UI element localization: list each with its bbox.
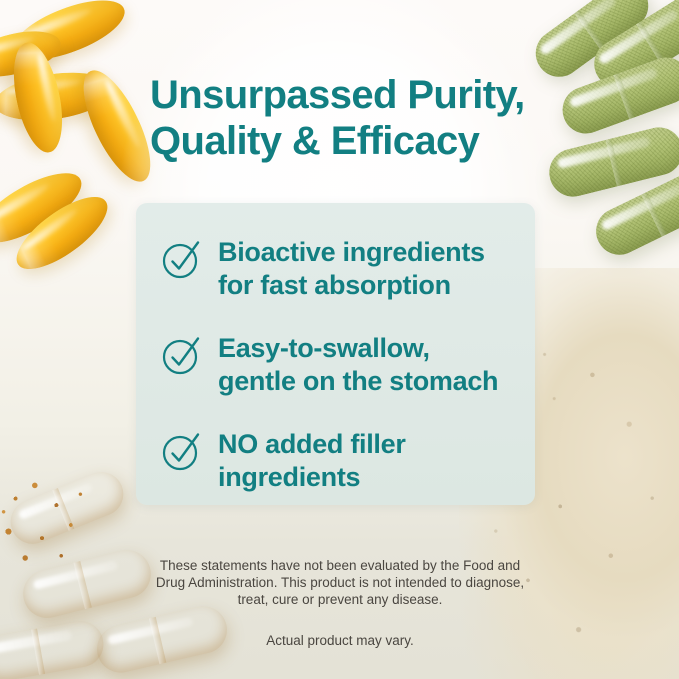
benefit-line-1: Bioactive ingredients [218, 236, 485, 269]
check-circle-icon [160, 332, 206, 378]
product-benefits-banner: Unsurpassed Purity, Quality & Efficacy B… [0, 0, 679, 679]
check-circle-icon [160, 236, 206, 282]
list-item: Bioactive ingredients for fast absorptio… [160, 234, 540, 302]
product-variance-note: Actual product may vary. [140, 632, 540, 649]
benefit-line-2: for fast absorption [218, 269, 485, 302]
check-circle-icon [160, 428, 206, 474]
fda-line-1: These statements have not been evaluated… [140, 557, 540, 574]
benefits-list: Bioactive ingredients for fast absorptio… [160, 234, 540, 494]
list-item: NO added filler ingredients [160, 426, 540, 494]
benefit-line-1: Easy-to-swallow, [218, 332, 498, 365]
fda-line-3: treat, cure or prevent any disease. [140, 591, 540, 608]
benefit-line-2: gentle on the stomach [218, 365, 498, 398]
benefit-line-1: NO added filler [218, 428, 406, 461]
list-item-label: NO added filler ingredients [218, 426, 406, 494]
headline-line-1: Unsurpassed Purity, [150, 72, 570, 118]
list-item-label: Bioactive ingredients for fast absorptio… [218, 234, 485, 302]
fda-line-2: Drug Administration. This product is not… [140, 574, 540, 591]
headline-line-2: Quality & Efficacy [150, 118, 570, 164]
list-item-label: Easy-to-swallow, gentle on the stomach [218, 330, 498, 398]
list-item: Easy-to-swallow, gentle on the stomach [160, 330, 540, 398]
legal-disclaimer: These statements have not been evaluated… [140, 557, 540, 649]
benefit-line-2: ingredients [218, 461, 406, 494]
page-title: Unsurpassed Purity, Quality & Efficacy [150, 72, 570, 164]
